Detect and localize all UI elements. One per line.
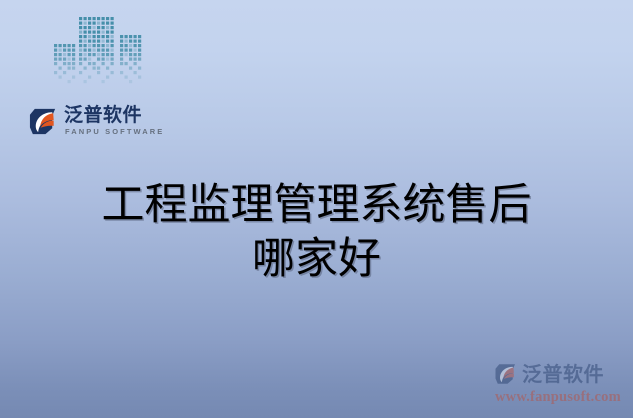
fanpu-brand-logo: 泛普软件 FANPU SOFTWARE bbox=[28, 101, 168, 141]
brand-name-en: FANPU SOFTWARE bbox=[65, 126, 164, 137]
brand-name-cn: 泛普软件 bbox=[64, 105, 164, 125]
watermark-url: www.fanpusoft.com bbox=[495, 389, 631, 406]
fanpu-logo-mark-icon bbox=[28, 106, 59, 137]
brand-text-block: 泛普软件 FANPU SOFTWARE bbox=[64, 105, 164, 137]
headline-line-1: 工程监理管理系统售后 bbox=[0, 178, 633, 232]
watermark-logo-mark-icon bbox=[494, 362, 518, 386]
watermark-name-cn: 泛普软件 bbox=[522, 363, 604, 385]
headline-line-2: 哪家好 bbox=[0, 232, 633, 286]
pixel-skyline-svg bbox=[52, 14, 152, 94]
slide-headline: 工程监理管理系统售后 哪家好 bbox=[0, 178, 633, 286]
watermark-logo-row: 泛普软件 bbox=[494, 360, 631, 388]
presentation-slide: 泛普软件 FANPU SOFTWARE 工程监理管理系统售后 哪家好 泛普软件 … bbox=[0, 0, 633, 418]
fanpu-watermark: 泛普软件 www.fanpusoft.com bbox=[494, 360, 631, 410]
pixel-skyline-graphic bbox=[52, 14, 152, 94]
